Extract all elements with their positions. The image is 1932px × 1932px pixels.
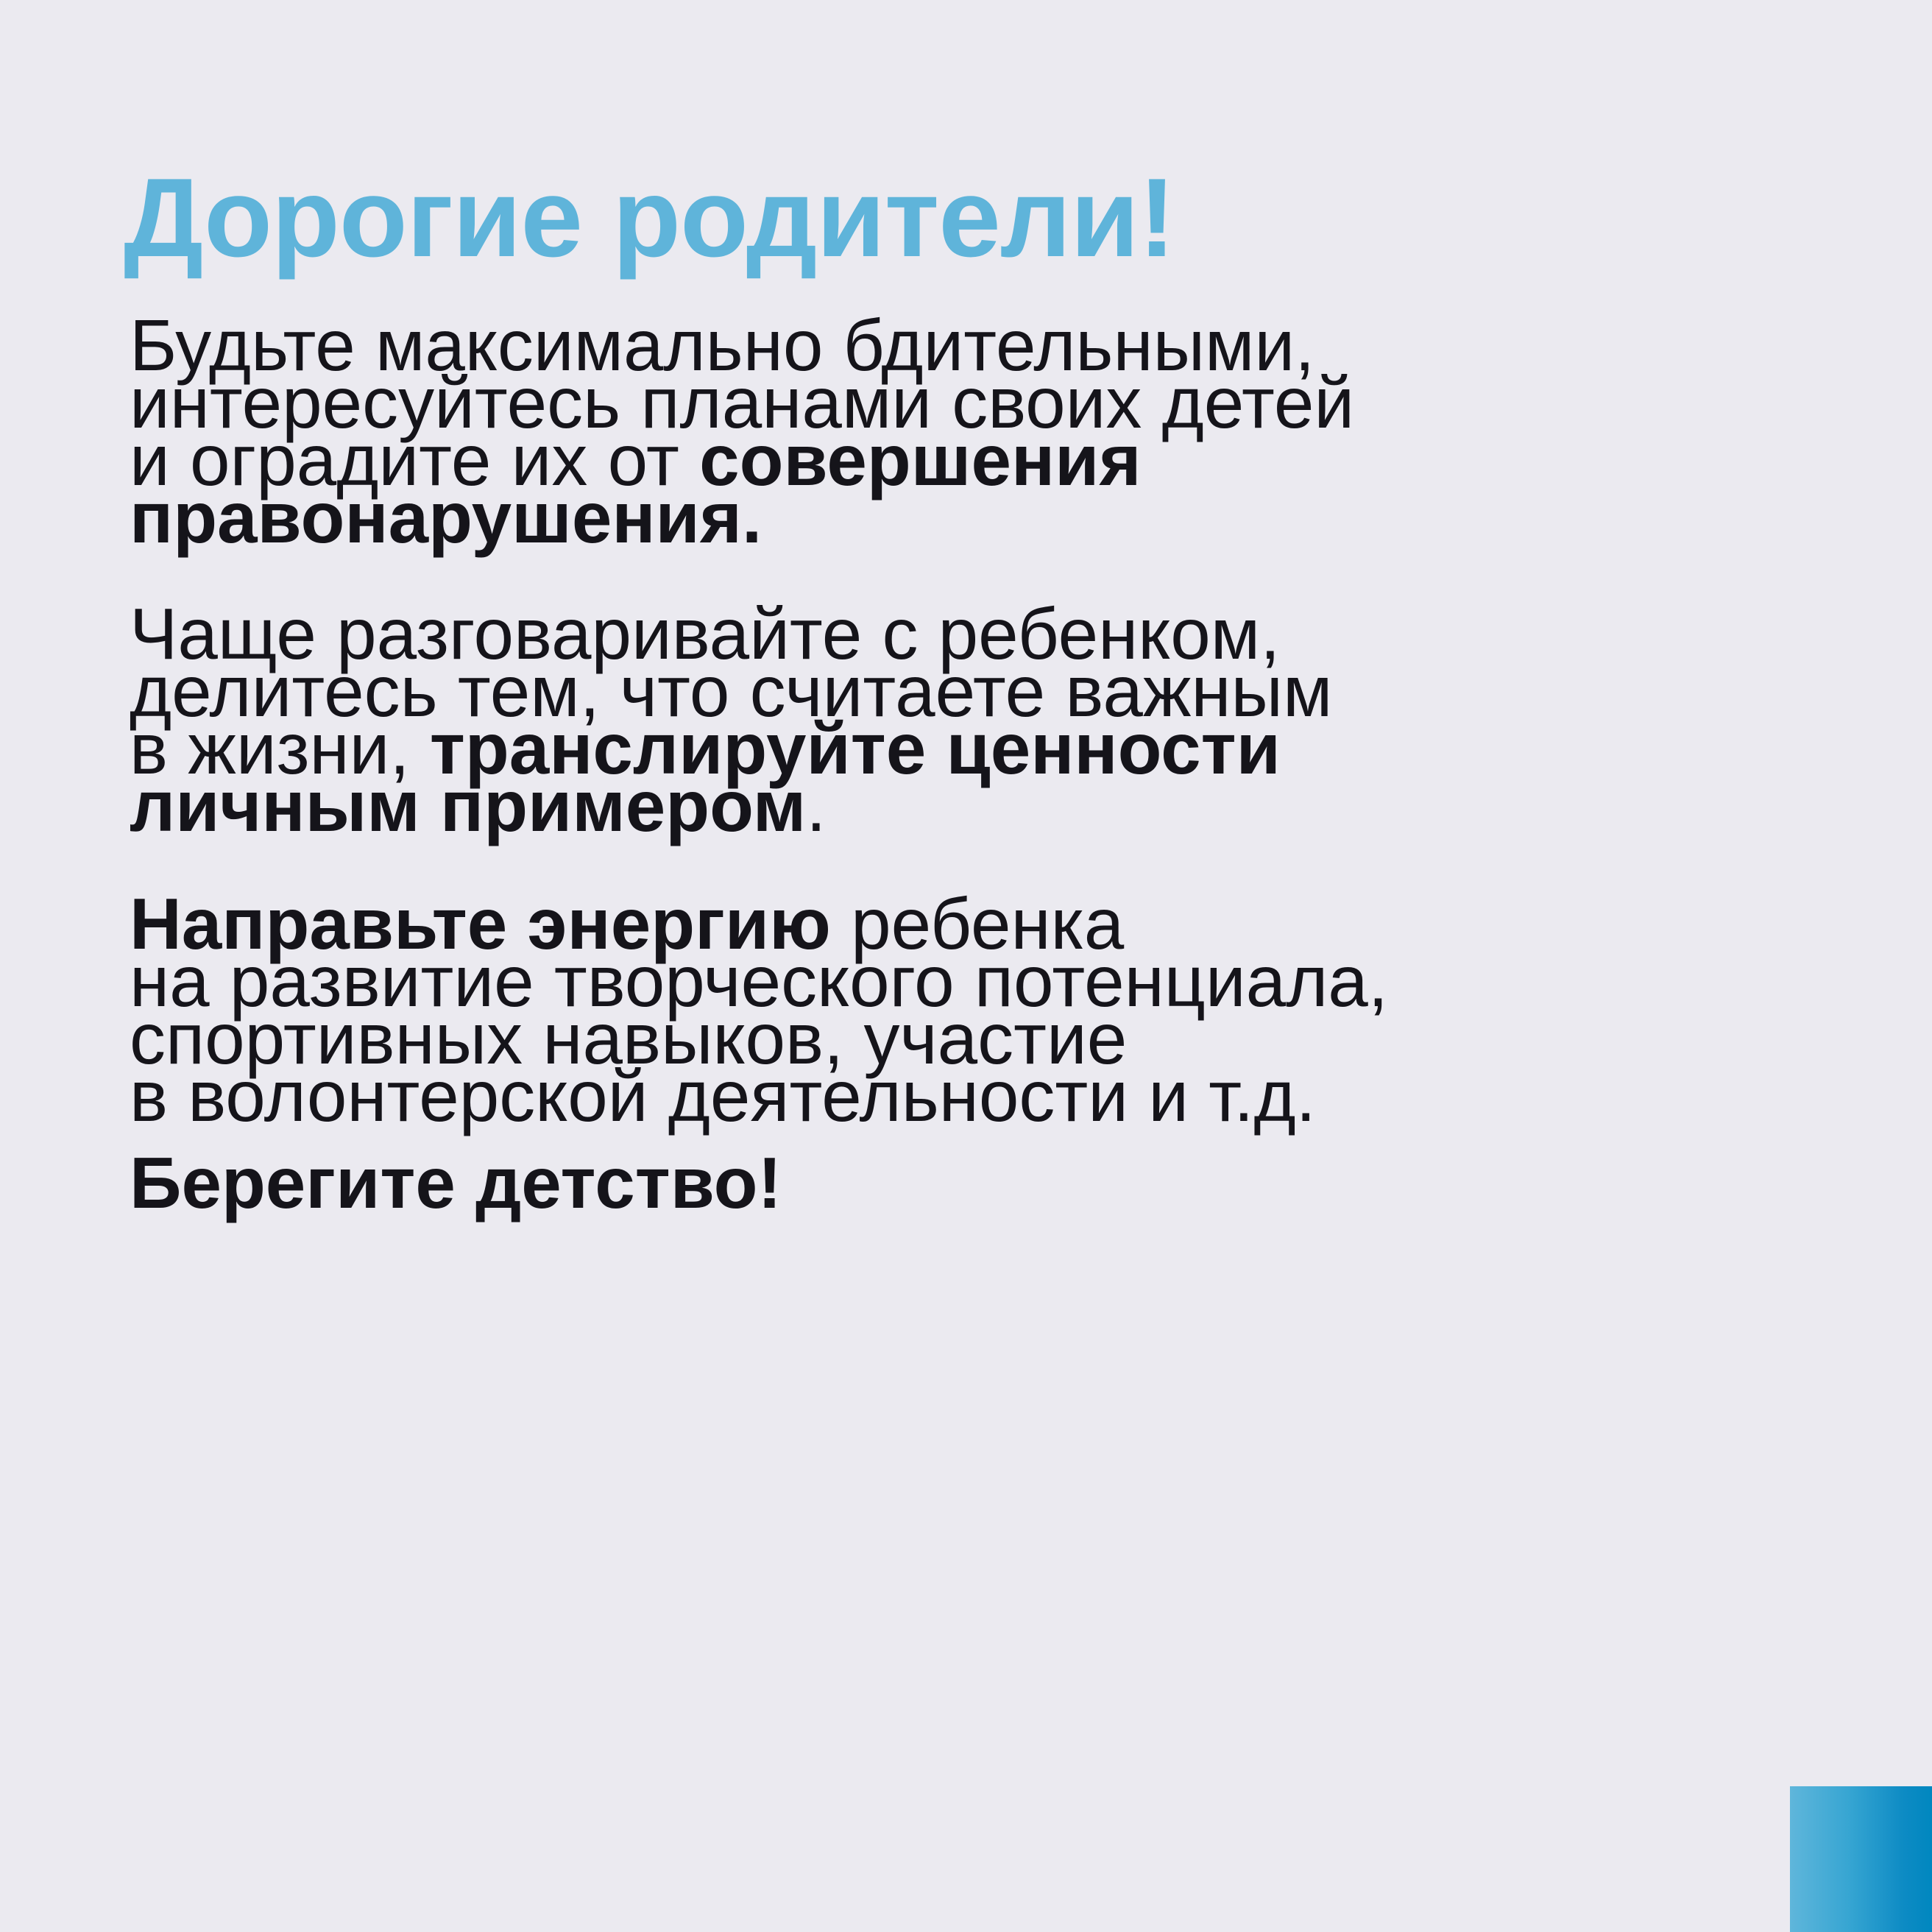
parent-advisory-poster: Дорогие родители! Будьте максимально бди… <box>0 0 1932 1932</box>
text-run-bold: совершения <box>699 420 1142 500</box>
page-title: Дорогие родители! <box>124 162 1175 274</box>
paragraph-energy: Направьте энергию ребенка на развитие тв… <box>130 895 1815 1125</box>
text-line: в волонтерской деятельности и т.д. <box>130 1067 1815 1125</box>
body-copy: Будьте максимально бдительными, интересу… <box>130 316 1815 1211</box>
text-run-bold: правонарушения. <box>130 477 762 558</box>
text-run-bold: Берегите детство! <box>130 1142 782 1223</box>
corner-accent-decoration <box>1790 1786 1932 1932</box>
text-line: Берегите детство! <box>130 1154 1815 1211</box>
text-run: в волонтерской деятельности и т.д. <box>130 1055 1316 1136</box>
text-run: . <box>806 765 826 846</box>
paragraph-vigilance: Будьте максимально бдительными, интересу… <box>130 316 1815 546</box>
text-run-bold: личным примером <box>130 765 806 846</box>
paragraph-closing: Берегите детство! <box>130 1154 1815 1211</box>
paragraph-communication: Чаще разговаривайте с ребенком, делитесь… <box>130 605 1815 835</box>
